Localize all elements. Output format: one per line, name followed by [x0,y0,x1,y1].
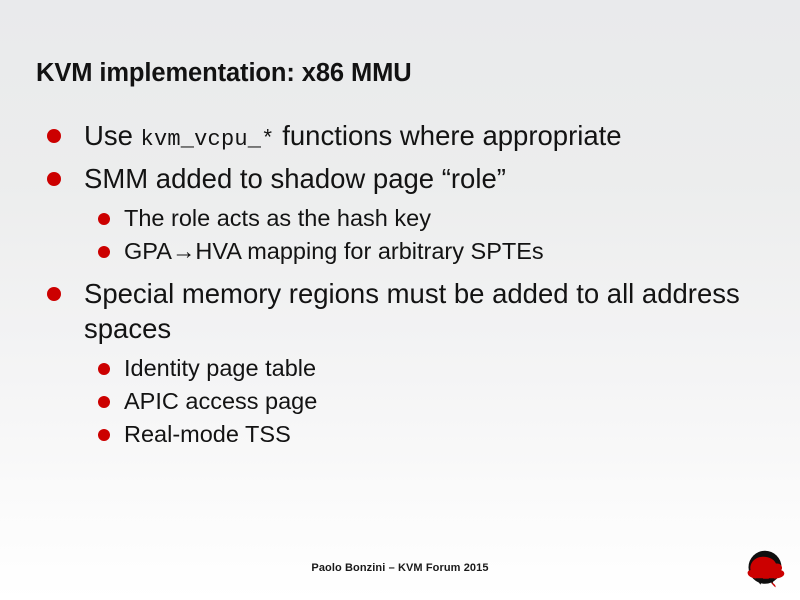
slide-footer: Paolo Bonzini – KVM Forum 2015 [0,562,800,574]
list-item-label: Use kvm_vcpu_* functions where appropria… [84,118,760,157]
list-item-label: APIC access page [124,386,760,417]
list-item-label: Identity page table [124,353,760,384]
list-item: GPA→HVA mapping for arbitrary SPTEs [0,236,800,267]
bullet-marker-icon [98,246,110,258]
slide-canvas: KVM implementation: x86 MMU Use kvm_vcpu… [0,0,800,600]
page-title: KVM implementation: x86 MMU [36,59,756,88]
bullet-marker-icon [47,287,61,301]
list-item-label: The role acts as the hash key [124,203,760,234]
list-item-label: SMM added to shadow page “role” [84,161,760,196]
bullet-marker-icon [98,363,110,375]
list-item: SMM added to shadow page “role” [0,161,800,196]
bullet-marker-icon [98,429,110,441]
list-item: Use kvm_vcpu_* functions where appropria… [0,118,800,157]
list-item-text-before: Use [84,120,141,151]
bullet-marker-icon [98,213,110,225]
bullet-list: Use kvm_vcpu_* functions where appropria… [0,118,800,452]
list-item: Identity page table [0,353,800,384]
inline-code: kvm_vcpu_* [141,127,275,152]
list-item-label: GPA→HVA mapping for arbitrary SPTEs [124,236,760,267]
bullet-marker-icon [98,396,110,408]
list-item: APIC access page [0,386,800,417]
list-item: Real-mode TSS [0,419,800,450]
list-item-label: Special memory regions must be added to … [84,276,760,346]
list-item-label: Real-mode TSS [124,419,760,450]
red-hat-shadowman-logo-icon [742,548,788,592]
bullet-marker-icon [47,129,61,143]
list-item: Special memory regions must be added to … [0,276,800,346]
bullet-marker-icon [47,172,61,186]
list-item: The role acts as the hash key [0,203,800,234]
list-item-text-after: functions where appropriate [275,120,622,151]
